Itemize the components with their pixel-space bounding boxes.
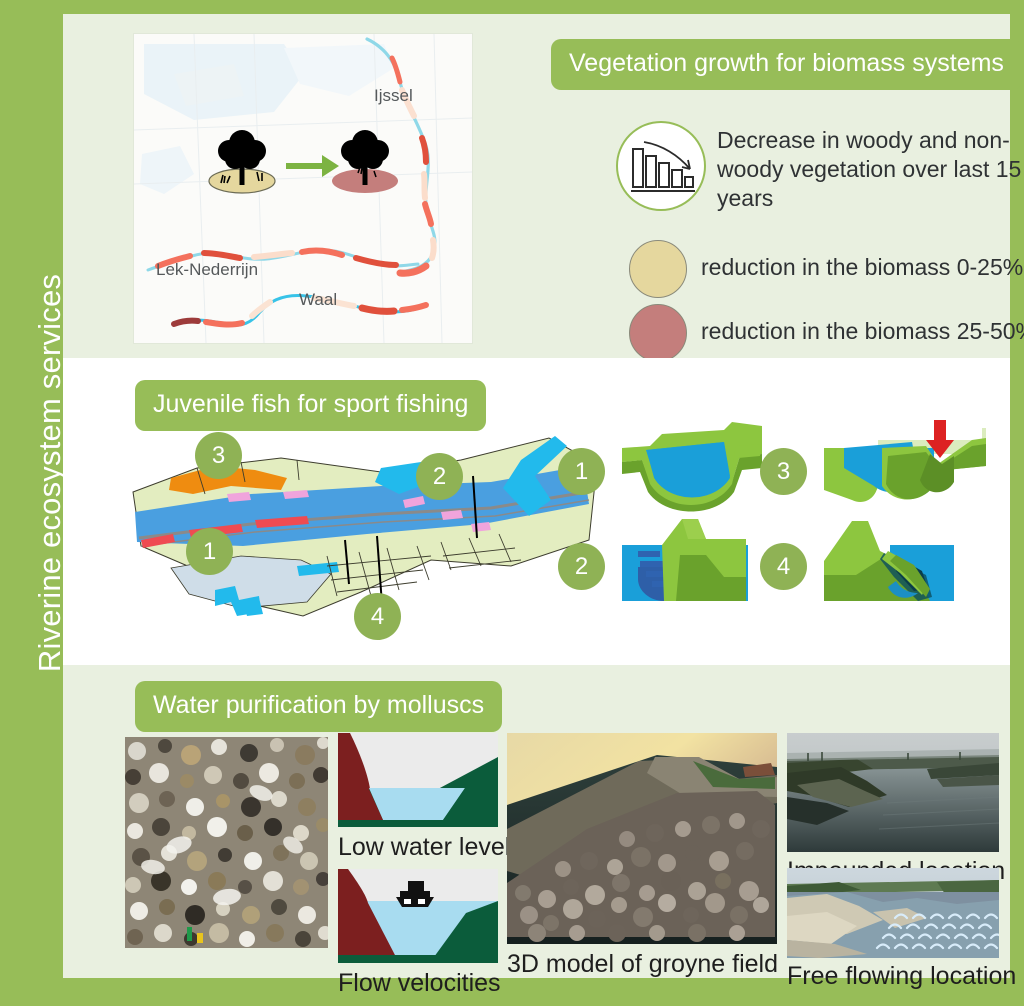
cross-section-2-art [620, 515, 750, 615]
cross-section-1-badge: 1 [558, 448, 605, 495]
map-label-waal: Waal [299, 290, 337, 310]
legend-label-0-25: reduction in the biomass 0-25% [701, 254, 1023, 281]
panel-juvenile-fish: Juvenile fish for sport fishing [63, 358, 1010, 665]
caption-flow-velocities: Flow velocities [338, 969, 501, 998]
cross-section-3-art [822, 420, 987, 520]
cross-section-4-badge: 4 [760, 543, 807, 590]
map-marker-4[interactable]: 4 [354, 593, 401, 640]
flow-velocities-diagram [338, 869, 498, 963]
legend-swatch-0-25 [629, 240, 687, 298]
free-flowing-location-photo [787, 868, 999, 958]
caption-3d-model: 3D model of groyne field [507, 950, 778, 979]
netherlands-rivers-map: Ijssel Lek-Nederrijn Waal [134, 34, 472, 343]
tree-after-icon [330, 129, 400, 200]
cross-section-3-badge: 3 [760, 448, 807, 495]
groyne-field-3d-photo [507, 733, 777, 944]
cross-section-2-badge: 2 [558, 543, 605, 590]
map-marker-1[interactable]: 1 [186, 528, 233, 575]
infographic-frame: Riverine ecosystem services Vegetation g… [0, 0, 1024, 1006]
tree-before-icon [207, 129, 277, 200]
panel-water-purification: Water purification by molluscs [63, 665, 1010, 978]
panel-vegetation: Vegetation growth for biomass systems [63, 14, 1010, 358]
declining-bar-chart-icon [616, 121, 706, 211]
panel-water-title: Water purification by molluscs [135, 681, 502, 732]
cross-section-4-art [822, 515, 957, 615]
legend-label-25-50: reduction in the biomass 25-50% [701, 318, 1024, 345]
mussel-shells-photo [125, 737, 328, 948]
caption-free-flowing-location: Free flowing location [787, 962, 1016, 991]
low-water-levels-diagram [338, 733, 498, 827]
panel-vegetation-title: Vegetation growth for biomass systems [551, 39, 1022, 90]
arrow-right-icon [286, 153, 340, 184]
legend-swatch-25-50 [629, 304, 687, 362]
map-marker-2[interactable]: 2 [416, 453, 463, 500]
vegetation-decrease-text: Decrease in woody and non-woody vegetati… [717, 126, 1024, 213]
impounded-location-photo [787, 733, 999, 852]
map-marker-3[interactable]: 3 [195, 432, 242, 479]
caption-low-water-levels: Low water levels [338, 833, 523, 862]
sidebar: Riverine ecosystem services [0, 0, 63, 1006]
map-label-lek-nederrijn: Lek-Nederrijn [156, 260, 258, 280]
cross-section-1-art [620, 420, 765, 520]
map-label-ijssel: Ijssel [374, 86, 413, 106]
